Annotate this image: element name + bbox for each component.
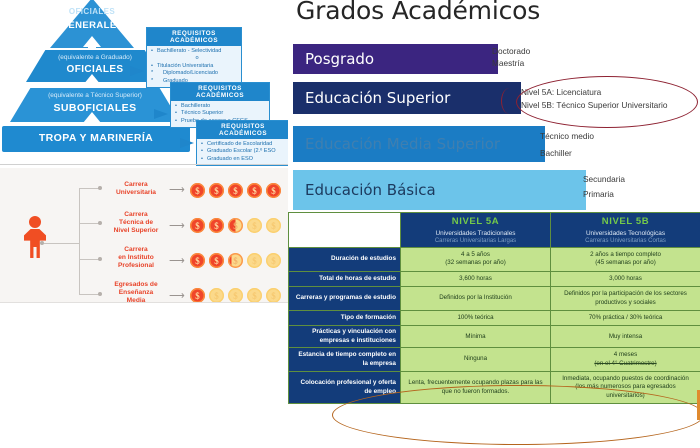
coin: $: [190, 253, 205, 268]
cell-5a: Definidos por la Institución: [401, 287, 551, 311]
cell-5a: 3,600 horas: [401, 271, 551, 286]
coin: $: [266, 253, 281, 268]
cell-5b: 4 meses (en el 4° Cuatrimestre): [551, 348, 700, 372]
grados-academicos-panel: Grados Académicos Posgrado Doctorado Mae…: [288, 0, 700, 212]
requirements-box-tropa-header: REQUISITOS ACADÉMICOS: [197, 121, 288, 139]
cell-5b: 70% práctica / 30% teórica: [551, 311, 700, 326]
requirements-box-tropa-body: Certificado de Escolaridad Graduado Esco…: [197, 139, 288, 165]
comparison-table-panel: NIVEL 5A Universidades Tradicionales Car…: [288, 212, 700, 448]
row-label: Tipo de formación: [289, 311, 401, 326]
row-arrow-icon: ⟶: [169, 185, 185, 196]
career-label-2: Carrera Técnica de Nivel Superior: [105, 211, 167, 236]
row-arrow-icon: ⟶: [169, 291, 185, 302]
cell-5b: Definidos por la participación de los se…: [551, 287, 700, 311]
cell-5b: 3,000 horas: [551, 271, 700, 286]
cell-5b: Muy intensa: [551, 326, 700, 348]
coin: $: [190, 218, 205, 233]
coin: $: [266, 288, 281, 303]
coin: $: [228, 183, 243, 198]
cell-5b: Inmediata, ocupando puestos de coordinac…: [551, 372, 700, 404]
tree-node-3: [98, 257, 102, 261]
coin: $: [190, 288, 205, 303]
table-header-nivel-5a: NIVEL 5A Universidades Tradicionales Car…: [401, 213, 551, 248]
cell-5a: Mínima: [401, 326, 551, 348]
tree-node-4: [98, 292, 102, 296]
pyramid-level-apex-line2: GENERALES: [44, 20, 140, 31]
career-label-1: Carrera Universitaria: [105, 181, 167, 197]
career-label-3: Carrera en Instituto Profesional: [105, 246, 167, 271]
table-row: Colocación profesional y oferta de emple…: [289, 372, 700, 404]
callout-arrow-1: [130, 66, 144, 76]
req-item: Graduado en ESO: [201, 156, 285, 163]
cell-5a: Ninguna: [401, 348, 551, 372]
req-item: Bachillerato - Selectividad: [151, 48, 237, 55]
coin: $: [209, 253, 224, 268]
row-label: Prácticas y vinculación con empresas e i…: [289, 326, 401, 348]
requirements-box-oficiales-body: Bachillerato - Selectividad o Titulación…: [147, 46, 241, 87]
coin: $: [266, 183, 281, 198]
table-row: Estancia de tiempo completo en la empres…: [289, 348, 700, 372]
coin: $: [266, 218, 281, 233]
screenshot-canvas: OFICIALES GENERALES (equivalente a Gradu…: [0, 0, 700, 448]
requirements-box-suboficiales-header: REQUISITOS ACADÉMICOS: [171, 83, 269, 101]
coin: $: [209, 288, 224, 303]
grado-side-basica: Secundaria Primaria: [583, 172, 625, 202]
pyramid-level-apex-line1: OFICIALES: [50, 7, 134, 16]
tree-node-2: [98, 221, 102, 225]
pyramid-oficiales-sub: (equivalente a Graduado): [26, 54, 164, 61]
coin: $: [247, 253, 262, 268]
req-item: o: [151, 55, 237, 62]
row-label: Duración de estudios: [289, 248, 401, 272]
career-earnings-panel: Carrera Universitaria Carrera Técnica de…: [0, 168, 288, 302]
requirements-box-oficiales-header: REQUISITOS ACADÉMICOS: [147, 28, 241, 46]
table-row: Tipo de formación 100% teórica 70% práct…: [289, 311, 700, 326]
grados-title: Grados Académicos: [296, 0, 540, 25]
red-ellipse-annotation: [516, 76, 698, 128]
table-row: Total de horas de estudio 3,600 horas 3,…: [289, 271, 700, 286]
grado-side-media-superior: Técnico medio Bachiller: [540, 128, 594, 162]
req-item: Graduado Escolar (2.º ESO: [201, 148, 285, 155]
tree-node-1: [98, 186, 102, 190]
row-label: Total de horas de estudio: [289, 271, 401, 286]
row-label: Colocación profesional y oferta de emple…: [289, 372, 401, 404]
callout-arrow-2: [154, 109, 168, 119]
table-header-row: NIVEL 5A Universidades Tradicionales Car…: [289, 213, 700, 248]
cell-5a: 100% teórica: [401, 311, 551, 326]
table-row: Duración de estudios 4 a 5 años (32 sema…: [289, 248, 700, 272]
grado-bar-posgrado: Posgrado: [293, 44, 498, 74]
grado-bar-superior: Educación Superior: [293, 82, 521, 114]
req-item: Titulación Universitaria: [151, 63, 237, 70]
requirements-box-tropa: REQUISITOS ACADÉMICOS Certificado de Esc…: [196, 120, 288, 166]
military-pyramid-panel: OFICIALES GENERALES (equivalente a Gradu…: [0, 0, 288, 166]
nivel-comparison-table: NIVEL 5A Universidades Tradicionales Car…: [288, 212, 700, 404]
coin: $: [228, 253, 243, 268]
coin: $: [247, 288, 262, 303]
table-row: Prácticas y vinculación con empresas e i…: [289, 326, 700, 348]
pyramid-tropa-label: TROPA Y MARINERÍA: [2, 132, 190, 144]
cell-5a: Lenta, frecuentemente ocupando plazas pa…: [401, 372, 551, 404]
coin: $: [209, 218, 224, 233]
grado-bar-basica: Educación Básica: [293, 170, 586, 210]
panel-divider-top: [0, 164, 288, 165]
coin: $: [228, 288, 243, 303]
table-row: Carreras y programas de estudio Definido…: [289, 287, 700, 311]
req-item: Diplomado/Licenciado: [151, 70, 237, 77]
person-icon: [22, 216, 48, 258]
coin: $: [209, 183, 224, 198]
req-item: Técnico Superior: [175, 110, 265, 117]
coin: $: [228, 218, 243, 233]
row-arrow-icon: ⟶: [169, 221, 185, 232]
panel-divider-bottom: [0, 302, 288, 303]
row-label: Carreras y programas de estudio: [289, 287, 401, 311]
table-corner-cell: [289, 213, 401, 248]
pyramid-suboficiales-sub: (equivalente a Técnico Superior): [10, 92, 180, 99]
coin: $: [247, 218, 262, 233]
callout-arrow-3: [180, 138, 194, 148]
row-arrow-icon: ⟶: [169, 256, 185, 267]
cell-5b: 2 años a tiempo completo (45 semanas por…: [551, 248, 700, 272]
red-ellipse-tail: [501, 88, 518, 114]
table-header-nivel-5b: NIVEL 5B Universidades Tecnológicas Carr…: [551, 213, 700, 248]
row-label: Estancia de tiempo completo en la empres…: [289, 348, 401, 372]
coin: $: [190, 183, 205, 198]
requirements-box-oficiales: REQUISITOS ACADÉMICOS Bachillerato - Sel…: [146, 27, 242, 88]
coin: $: [247, 183, 262, 198]
cell-5a: 4 a 5 años (32 semanas por año): [401, 248, 551, 272]
grado-side-posgrado: Doctorado Maestría: [492, 46, 530, 69]
req-item: Bachillerato: [175, 103, 265, 110]
grado-bar-media-superior: Educación Media Superior: [293, 126, 545, 162]
